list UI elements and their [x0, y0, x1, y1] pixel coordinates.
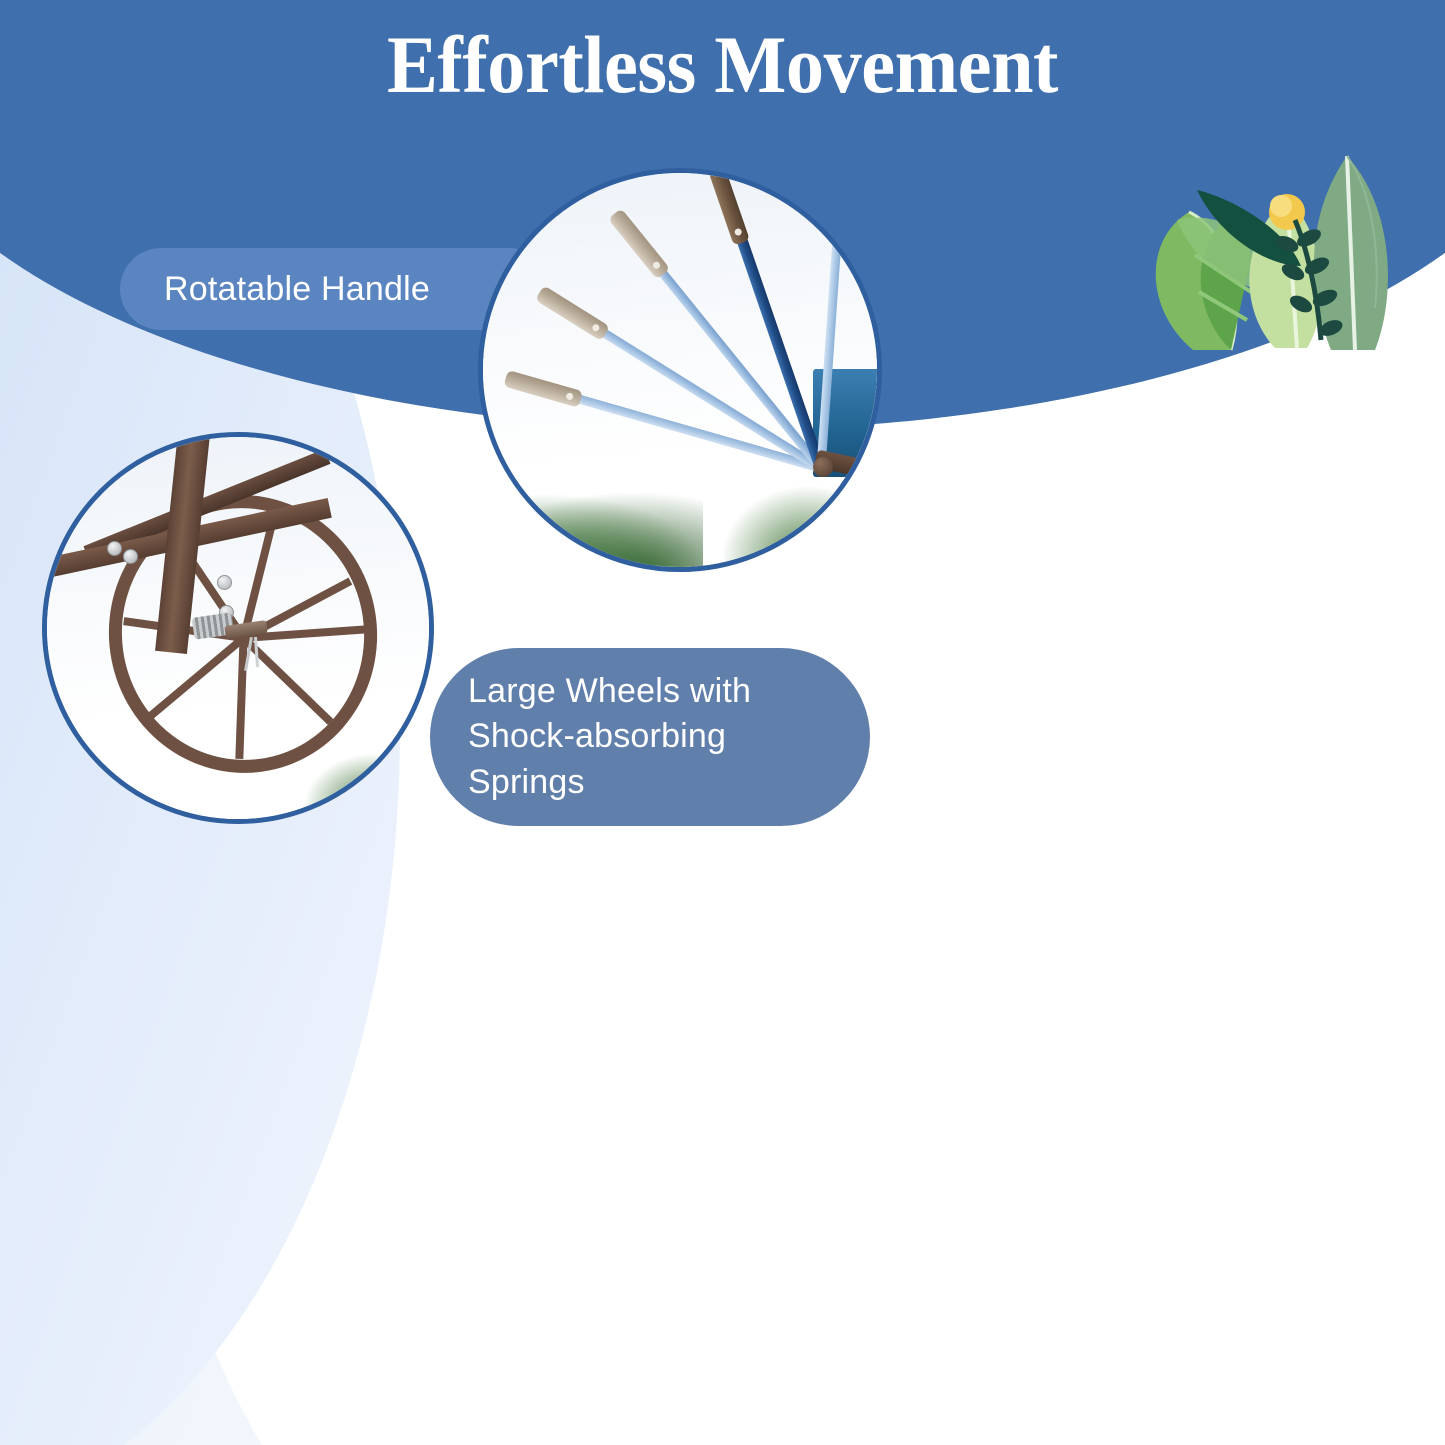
badge-large-wheels: Large Wheels with Shock-absorbing Spring…	[430, 648, 870, 826]
wheel-screw	[217, 575, 232, 590]
badge-wheels-line-2: Shock-absorbing	[468, 714, 751, 760]
callout-foliage	[303, 753, 434, 824]
callout-rotatable-handle	[478, 168, 882, 572]
cart-bolt	[362, 1118, 371, 1127]
child-shirt-collar	[1250, 642, 1360, 688]
callout-foliage	[723, 487, 882, 572]
badge-rotatable-handle-label: Rotatable Handle	[164, 270, 430, 309]
leaf-cluster-icon	[1135, 120, 1435, 355]
cart-wheel-front	[488, 1180, 748, 1440]
wheel-hub	[608, 1300, 628, 1320]
wheel-screw	[107, 541, 122, 556]
callout-foliage	[478, 493, 703, 572]
child-hair-side	[1320, 450, 1396, 640]
cart-inner-trough	[392, 1030, 602, 1082]
page-title: Effortless Movement	[51, 24, 1395, 106]
handle-pivot-bolt	[813, 457, 833, 477]
child-figure	[1020, 390, 1440, 1445]
cart-bolt	[430, 1118, 439, 1127]
badge-large-wheels-text: Large Wheels with Shock-absorbing Spring…	[468, 669, 751, 806]
callout-large-wheels	[42, 432, 434, 824]
cart-bolt	[542, 1118, 551, 1127]
marketing-image: Effortless Movement	[0, 0, 1445, 1445]
leaves-decoration	[1135, 120, 1435, 355]
badge-wheels-line-1: Large Wheels with	[468, 669, 751, 715]
wheel-screw	[123, 549, 138, 564]
badge-wheels-line-3: Springs	[468, 760, 751, 806]
